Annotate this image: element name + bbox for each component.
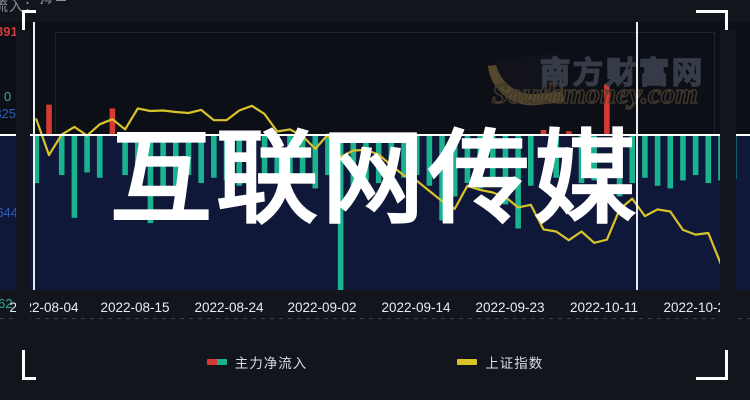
x-axis-dashed-rule [0,318,750,319]
frame-gap-bottom [36,372,696,388]
x-tick-5: 2022-09-23 [475,300,544,315]
watermark: 南方财富网 Southmoney.com [490,48,746,124]
x-tick-4: 2022-09-14 [381,300,450,315]
legend-bar-marker-icon [207,359,227,365]
x-tick-3: 2022-09-02 [287,300,356,315]
legend-line-marker-icon [457,359,477,365]
overlay-title: 互联网传媒 [0,126,750,234]
y-axis-label-neg1: -325 [0,106,16,121]
x-tick-1: 2022-08-15 [100,300,169,315]
frame-gap-top [36,4,696,18]
legend-label-sse-index: 上证指数 [485,352,543,372]
frame-gap-right [720,30,736,350]
x-tick-6: 2022-10-11 [570,300,638,315]
x-tick-2: 2022-08-24 [194,300,263,315]
legend-item-sse-index[interactable]: 上证指数 [457,352,543,372]
y-axis-label-zero: 0 [4,89,11,104]
legend-item-main-inflow[interactable]: 主力净流入 [207,352,308,372]
frame-gap-left [16,30,30,350]
chart-screenshot: 流入：亿元 南方财富网 Southmoney.com 391 0 -325 -6… [0,0,750,400]
x-axis: 2022-08-04 2022-08-15 2022-08-24 2022-09… [0,290,750,320]
watermark-en-text: Southmoney.com [492,78,698,111]
legend-label-main-inflow: 主力净流入 [235,352,308,372]
